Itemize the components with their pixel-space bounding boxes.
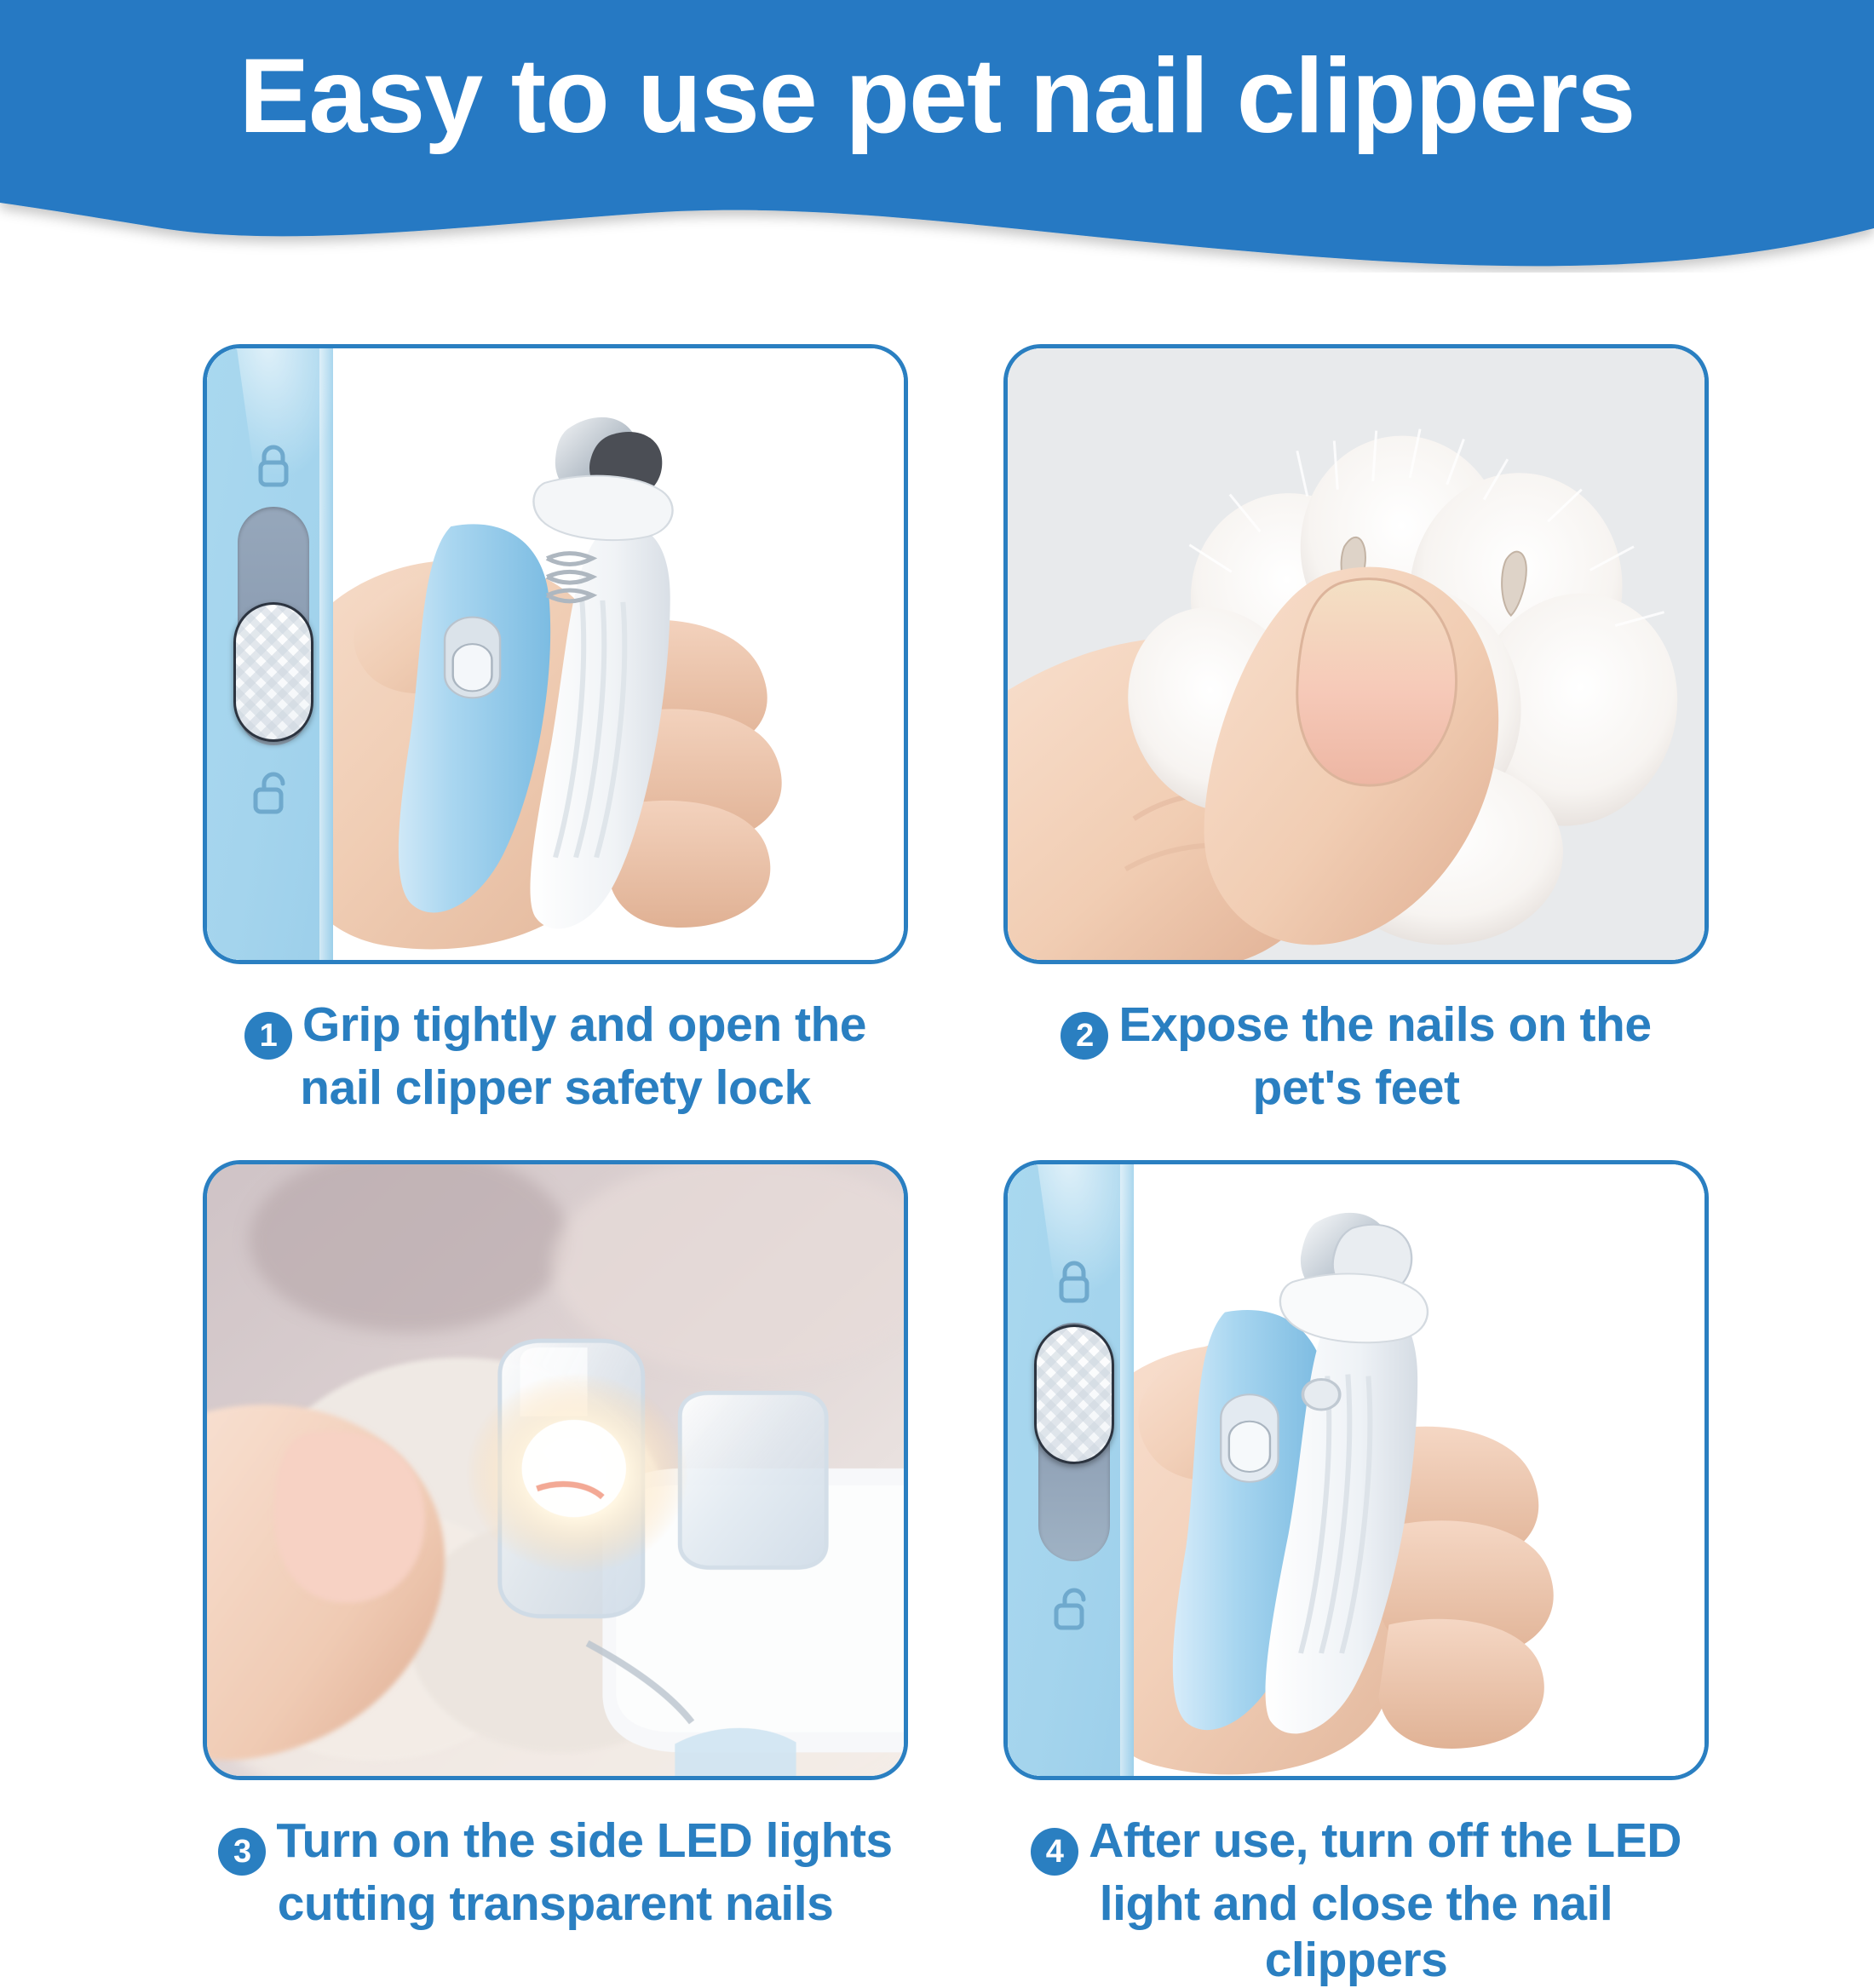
step-4-caption-text: After use, turn off the LED light and cl… (1089, 1813, 1681, 1987)
step-1-image-panel (203, 344, 908, 964)
step-1-caption: 1Grip tightly and open the nail clipper … (203, 997, 908, 1116)
safety-lock-slider-thumb-1[interactable] (233, 602, 313, 742)
row-spacer (203, 1116, 1709, 1160)
page-header: Easy to use pet nail clippers (0, 0, 1874, 273)
padlock-closed-icon (1052, 1258, 1096, 1306)
padlock-closed-icon (251, 442, 296, 490)
step-2-image-panel (1003, 344, 1709, 964)
step-badge-3: 3 (218, 1828, 266, 1876)
step-3-photo (207, 1164, 904, 1776)
steps-row-top: 1Grip tightly and open the nail clipper … (203, 344, 1709, 1116)
step-2-photo (1008, 348, 1704, 960)
step-3-image-panel (203, 1160, 908, 1780)
step-card-2: 2Expose the nails on the pet's feet (1003, 344, 1709, 1116)
step-badge-1: 1 (244, 1012, 292, 1060)
step-card-4: 4After use, turn off the LED light and c… (1003, 1160, 1709, 1988)
step-4-image-panel (1003, 1160, 1709, 1780)
safety-lock-slider-thumb-4[interactable] (1034, 1324, 1114, 1464)
step-4-caption: 4After use, turn off the LED light and c… (1003, 1813, 1709, 1988)
page-title: Easy to use pet nail clippers (0, 41, 1874, 152)
step-3-caption: 3Turn on the side LED lights cutting tra… (203, 1813, 908, 1932)
steps-row-bottom: 3Turn on the side LED lights cutting tra… (203, 1160, 1709, 1988)
step-card-3: 3Turn on the side LED lights cutting tra… (203, 1160, 908, 1988)
step-2-caption-text: Expose the nails on the pet's feet (1118, 997, 1651, 1115)
steps-grid: 1Grip tightly and open the nail clipper … (203, 344, 1709, 1988)
padlock-open-icon (251, 769, 296, 817)
step-1-caption-text: Grip tightly and open the nail clipper s… (300, 997, 866, 1115)
step-3-caption-text: Turn on the side LED lights cutting tran… (276, 1813, 892, 1931)
step-badge-2: 2 (1061, 1012, 1108, 1060)
padlock-open-icon (1052, 1585, 1096, 1633)
step-card-1: 1Grip tightly and open the nail clipper … (203, 344, 908, 1116)
step-2-caption: 2Expose the nails on the pet's feet (1003, 997, 1709, 1116)
safety-lock-strip-1 (207, 348, 333, 960)
safety-lock-strip-4 (1008, 1164, 1134, 1776)
step-badge-4: 4 (1031, 1828, 1078, 1876)
